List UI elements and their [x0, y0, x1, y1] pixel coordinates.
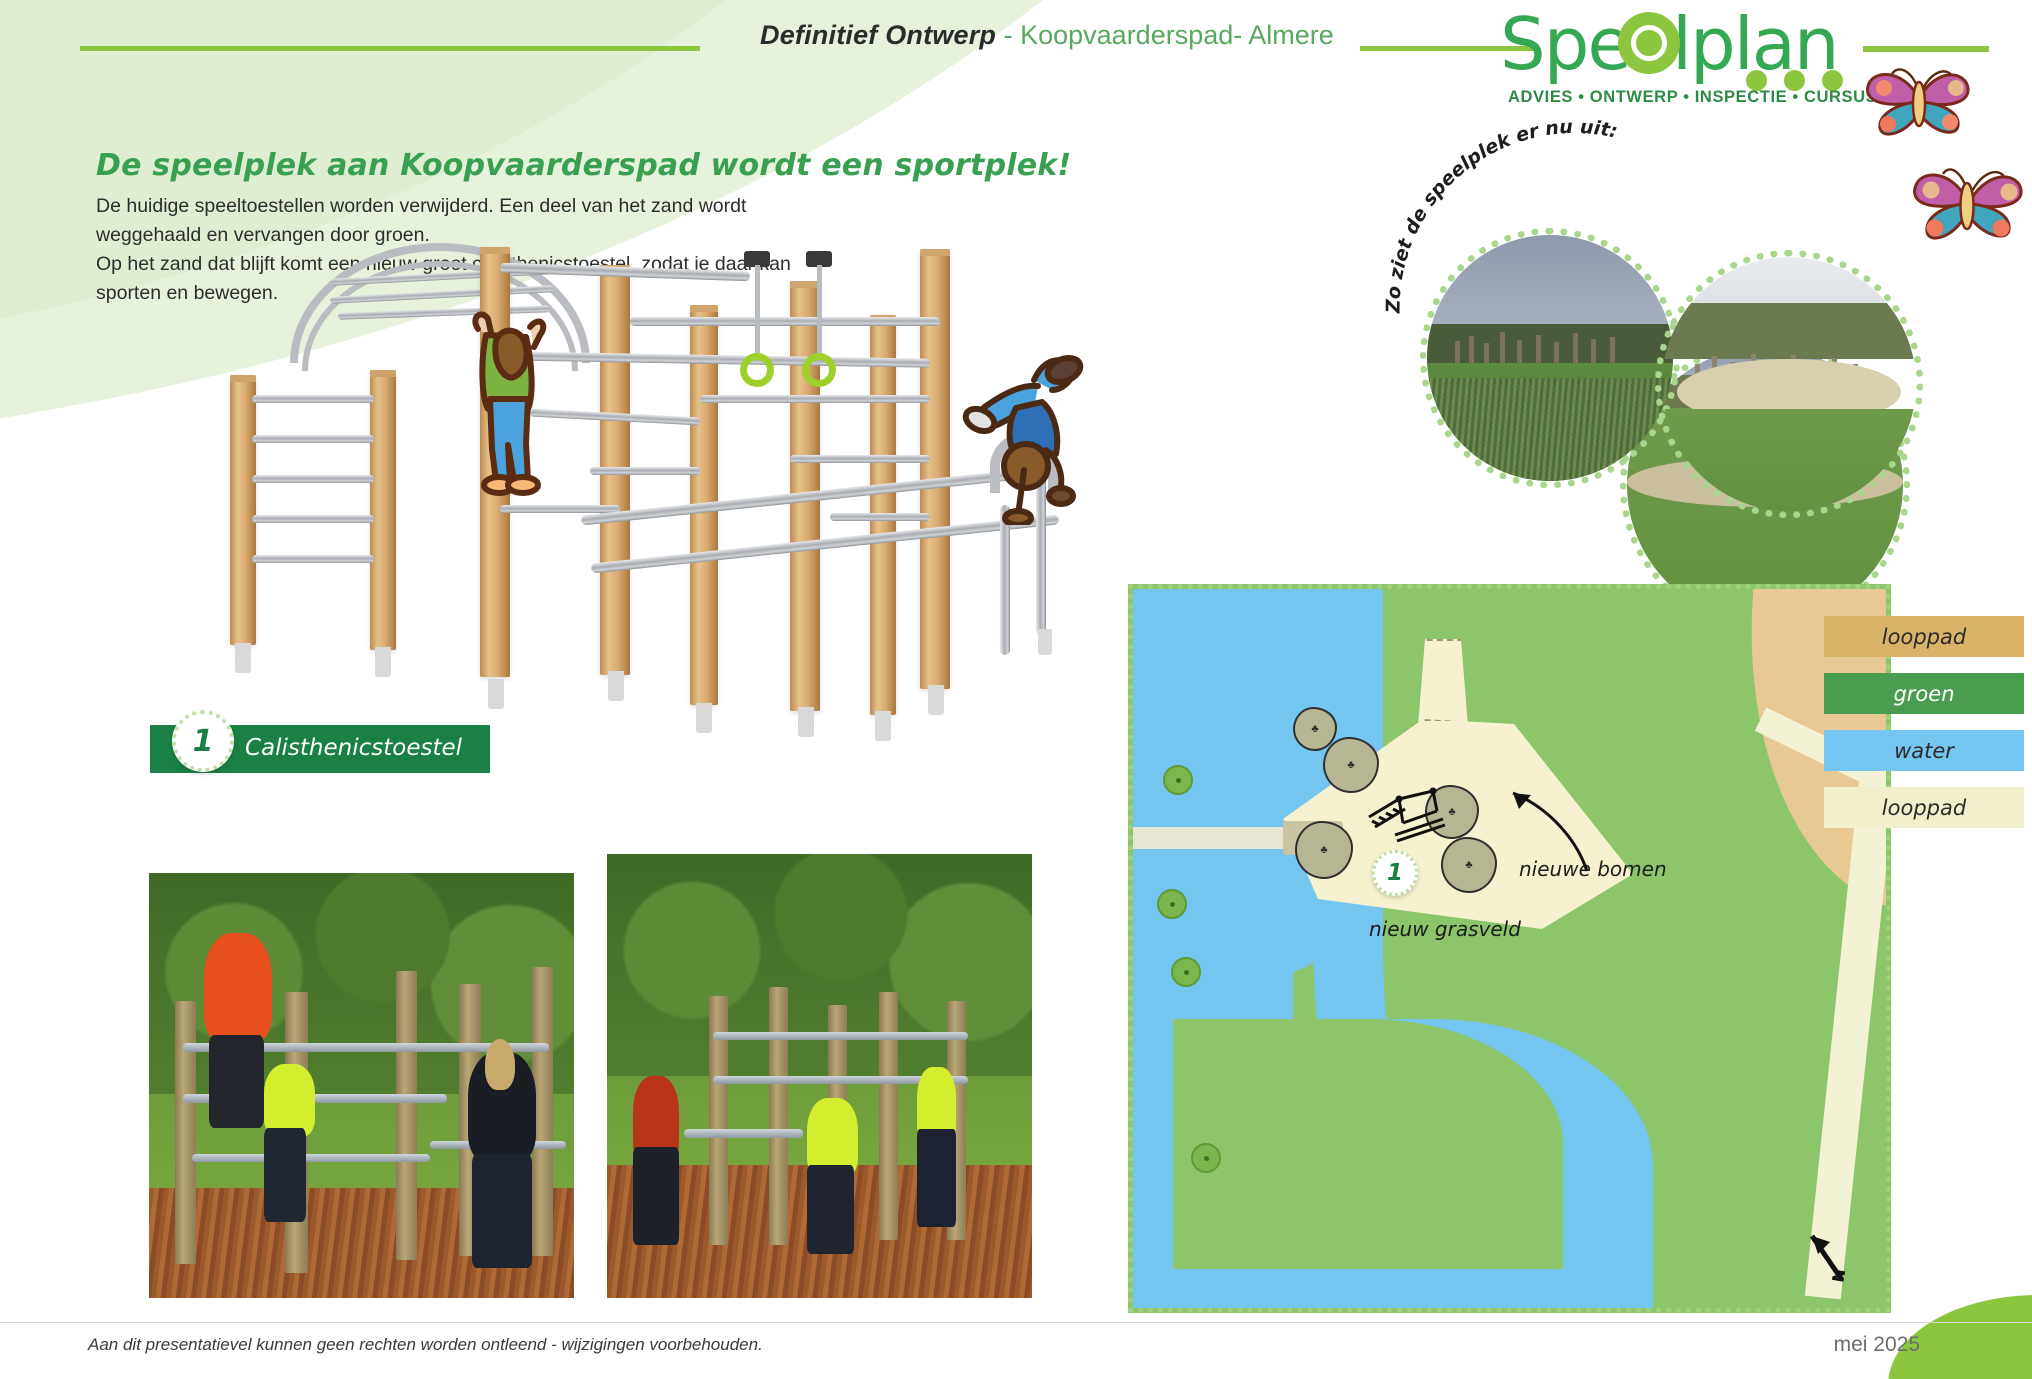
presentation-sheet: Definitief Ontwerp - Koopvaarderspad- Al…: [0, 0, 2032, 1379]
logo-e-ring-icon: [1631, 25, 1667, 61]
footer-disclaimer: Aan dit presentatievel kunnen geen recht…: [88, 1335, 763, 1355]
wood-post: [920, 249, 950, 689]
map-planting-dot: [1163, 765, 1193, 795]
wood-post: [370, 370, 396, 650]
pull-up-bar: [630, 317, 940, 326]
map-planting-dot: [1157, 889, 1187, 919]
butterfly-icon: [1905, 150, 2032, 255]
speelplan-logo: Speelplan ADVIES • ONTWERP • INSPECTIE •…: [1500, 6, 1840, 106]
map-planting-dot: [1191, 1143, 1221, 1173]
person-on-equipment: [204, 933, 272, 1044]
footer-divider: [0, 1322, 2032, 1323]
cartoon-cartwheel-figure: [960, 350, 1090, 525]
legend-label: water: [1894, 739, 1954, 763]
legend-item-water: water: [1824, 730, 2024, 771]
document-title-bold: Definitief Ontwerp: [760, 20, 996, 50]
page-title: De speelplek aan Koopvaarderspad wordt e…: [96, 148, 1071, 183]
reference-photo-2: [607, 854, 1032, 1298]
legend-item-looppad-cream: looppad: [1824, 787, 2024, 828]
header-rule-left: [80, 46, 700, 51]
document-title: Definitief Ontwerp - Koopvaarderspad- Al…: [760, 20, 1334, 51]
map-planting-dot: [1171, 957, 1201, 987]
footer-date: mei 2025: [1834, 1333, 1920, 1357]
reference-photo-1: [149, 873, 574, 1298]
site-plan-map: ♣ ♣ ♣ ♣ ♣ nieuwe bomen nieuw grasveld: [1128, 584, 1891, 1313]
legend-label: groen: [1893, 682, 1954, 706]
gymnastic-ring: [740, 353, 774, 387]
map-legend: looppad groen water looppad: [1824, 616, 2024, 844]
old-equipment-posts: [1447, 324, 1654, 368]
map-annotation-nieuw-grasveld: nieuw grasveld: [1369, 917, 1521, 941]
map-item-number-badge: 1: [1372, 850, 1418, 896]
map-equipment-symbol: [1365, 777, 1465, 849]
gymnastic-ring: [802, 353, 836, 387]
item-number-badge: 1: [172, 710, 234, 772]
site-photo-sandpit: [1655, 250, 1923, 518]
cartoon-hanging-figure: [452, 303, 562, 503]
legend-item-groen: groen: [1824, 673, 2024, 714]
map-annotation-nieuwe-bomen: nieuwe bomen: [1519, 857, 1667, 881]
wood-post: [230, 375, 256, 645]
document-title-location: - Koopvaarderspad- Almere: [996, 20, 1334, 50]
north-arrow-icon: N: [1798, 1226, 1860, 1288]
butterfly-icon: [1862, 52, 1982, 147]
legend-label: looppad: [1882, 625, 1966, 649]
item-label-text: Calisthenicstoestel: [245, 735, 462, 761]
legend-item-looppad-tan: looppad: [1824, 616, 2024, 657]
legend-label: looppad: [1882, 796, 1966, 820]
logo-tagline: ADVIES • ONTWERP • INSPECTIE • CURSUS: [1508, 88, 1877, 107]
site-photo-reeds: [1420, 228, 1680, 488]
north-arrow-label: N: [1828, 1267, 1849, 1283]
